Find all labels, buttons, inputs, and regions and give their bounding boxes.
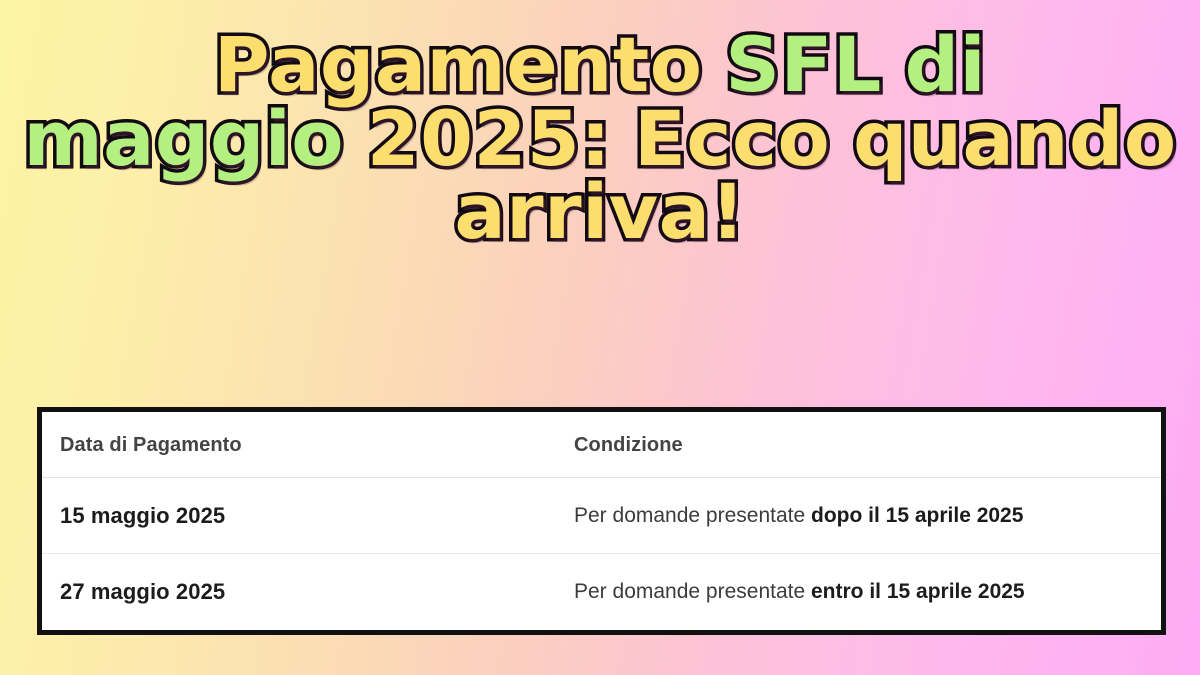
condition-value: Per domande presentate dopo il 15 aprile… — [574, 504, 1023, 527]
cell-condition: Per domande presentate entro il 15 april… — [574, 580, 1161, 604]
condition-prefix: Per domande presentate — [574, 504, 811, 527]
table-header-row: Data di Pagamento Condizione — [42, 412, 1161, 478]
table-row: 27 maggio 2025 Per domande presentate en… — [42, 554, 1161, 630]
column-header-date: Data di Pagamento — [42, 433, 574, 457]
table-row: 15 maggio 2025 Per domande presentate do… — [42, 478, 1161, 554]
condition-prefix: Per domande presentate — [574, 580, 811, 603]
title-line-3: arriva! — [0, 175, 1200, 249]
condition-emphasis: dopo il 15 aprile 2025 — [811, 504, 1023, 527]
payment-date-value: 15 maggio 2025 — [60, 503, 225, 528]
title-word: quando — [853, 102, 1177, 176]
title-word: di — [905, 28, 986, 102]
poster-canvas: PagamentoSFLdi maggio2025:Eccoquando arr… — [0, 0, 1200, 675]
title-word: SFL — [725, 28, 882, 102]
poster-title: PagamentoSFLdi maggio2025:Eccoquando arr… — [0, 28, 1200, 249]
title-line-2: maggio2025:Eccoquando — [0, 102, 1200, 176]
column-header-date-label: Data di Pagamento — [60, 434, 242, 456]
title-word: Pagamento — [214, 28, 703, 102]
title-line-1: PagamentoSFLdi — [0, 28, 1200, 102]
cell-payment-date: 27 maggio 2025 — [42, 579, 574, 605]
title-word: Ecco — [634, 102, 830, 176]
condition-emphasis: entro il 15 aprile 2025 — [811, 580, 1025, 603]
title-word: arriva! — [454, 175, 745, 249]
column-header-condition-label: Condizione — [574, 434, 683, 456]
column-header-condition: Condizione — [574, 433, 1161, 457]
title-word: maggio — [23, 102, 344, 176]
condition-value: Per domande presentate entro il 15 april… — [574, 580, 1025, 603]
cell-condition: Per domande presentate dopo il 15 aprile… — [574, 504, 1161, 528]
title-word: 2025: — [367, 102, 611, 176]
payment-date-value: 27 maggio 2025 — [60, 579, 225, 604]
payment-schedule-table: Data di Pagamento Condizione 15 maggio 2… — [37, 407, 1166, 635]
cell-payment-date: 15 maggio 2025 — [42, 503, 574, 529]
